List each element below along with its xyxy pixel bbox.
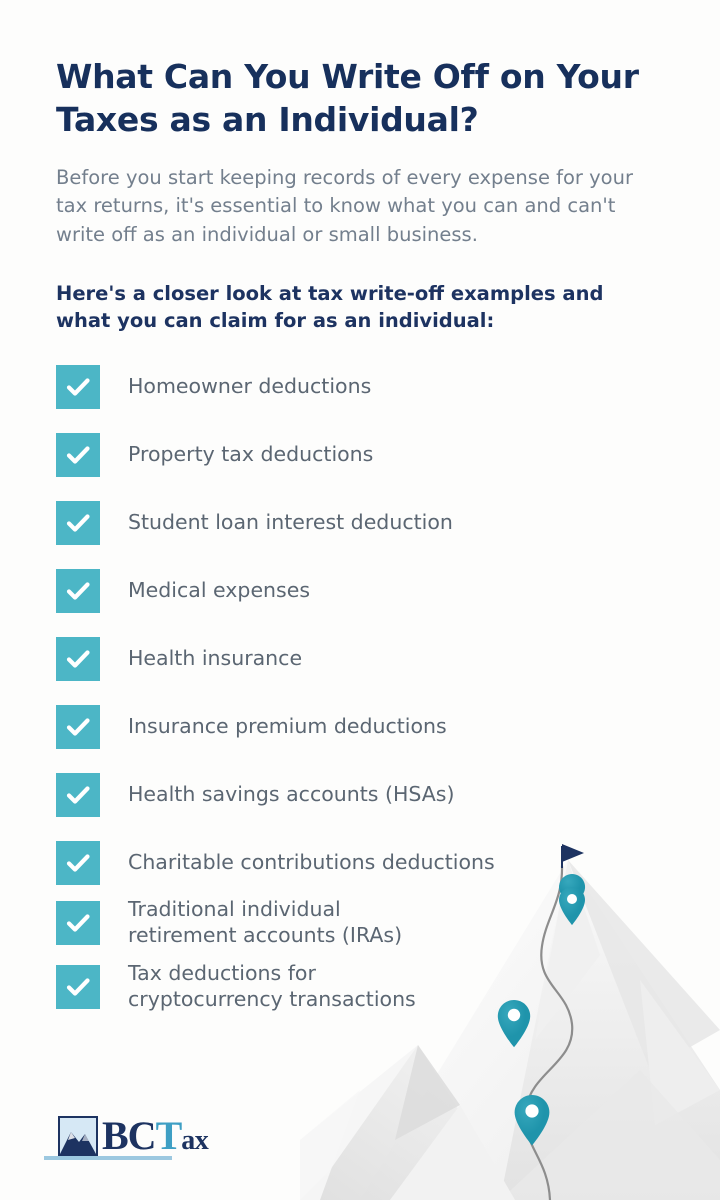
check-icon (56, 569, 100, 613)
logo-text-bc: BC (102, 1113, 156, 1158)
logo-text-ax: ax (181, 1125, 208, 1156)
list-item-label: Homeowner deductions (128, 374, 371, 400)
list-item: Tax deductions for cryptocurrency transa… (56, 961, 664, 1013)
mountain-logo-icon (58, 1116, 98, 1156)
check-icon (56, 901, 100, 945)
list-item: Insurance premium deductions (56, 705, 664, 749)
list-item-label: Tax deductions for cryptocurrency transa… (128, 961, 416, 1013)
check-icon (56, 841, 100, 885)
list-item-label: Insurance premium deductions (128, 714, 447, 740)
list-item-label: Health savings accounts (HSAs) (128, 782, 454, 808)
list-item: Homeowner deductions (56, 365, 664, 409)
logo-text-t: T (156, 1113, 182, 1158)
list-item-label: Medical expenses (128, 578, 310, 604)
list-item-label: Health insurance (128, 646, 302, 672)
section-subheading: Here's a closer look at tax write-off ex… (56, 280, 636, 335)
intro-paragraph: Before you start keeping records of ever… (56, 164, 656, 250)
check-icon (56, 705, 100, 749)
check-icon (56, 433, 100, 477)
list-item: Health savings accounts (HSAs) (56, 773, 664, 817)
infographic-body: What Can You Write Off on Your Taxes as … (0, 0, 720, 1200)
list-item: Student loan interest deduction (56, 501, 664, 545)
list-item-label: Traditional individual retirement accoun… (128, 897, 402, 949)
logo-underline (44, 1156, 172, 1160)
bctax-logo: BCTax (58, 1116, 208, 1156)
check-icon (56, 773, 100, 817)
check-icon (56, 965, 100, 1009)
check-icon (56, 501, 100, 545)
list-item: Charitable contributions deductions (56, 841, 664, 885)
list-item: Property tax deductions (56, 433, 664, 477)
check-icon (56, 637, 100, 681)
list-item: Medical expenses (56, 569, 664, 613)
list-item-label: Student loan interest deduction (128, 510, 453, 536)
check-icon (56, 365, 100, 409)
list-item: Health insurance (56, 637, 664, 681)
list-item-label: Property tax deductions (128, 442, 373, 468)
page-title: What Can You Write Off on Your Taxes as … (56, 56, 664, 142)
logo-wordmark: BCTax (102, 1116, 208, 1156)
tax-writeoff-checklist: Homeowner deductions Property tax deduct… (56, 365, 664, 1012)
list-item: Traditional individual retirement accoun… (56, 897, 664, 949)
list-item-label: Charitable contributions deductions (128, 850, 495, 876)
